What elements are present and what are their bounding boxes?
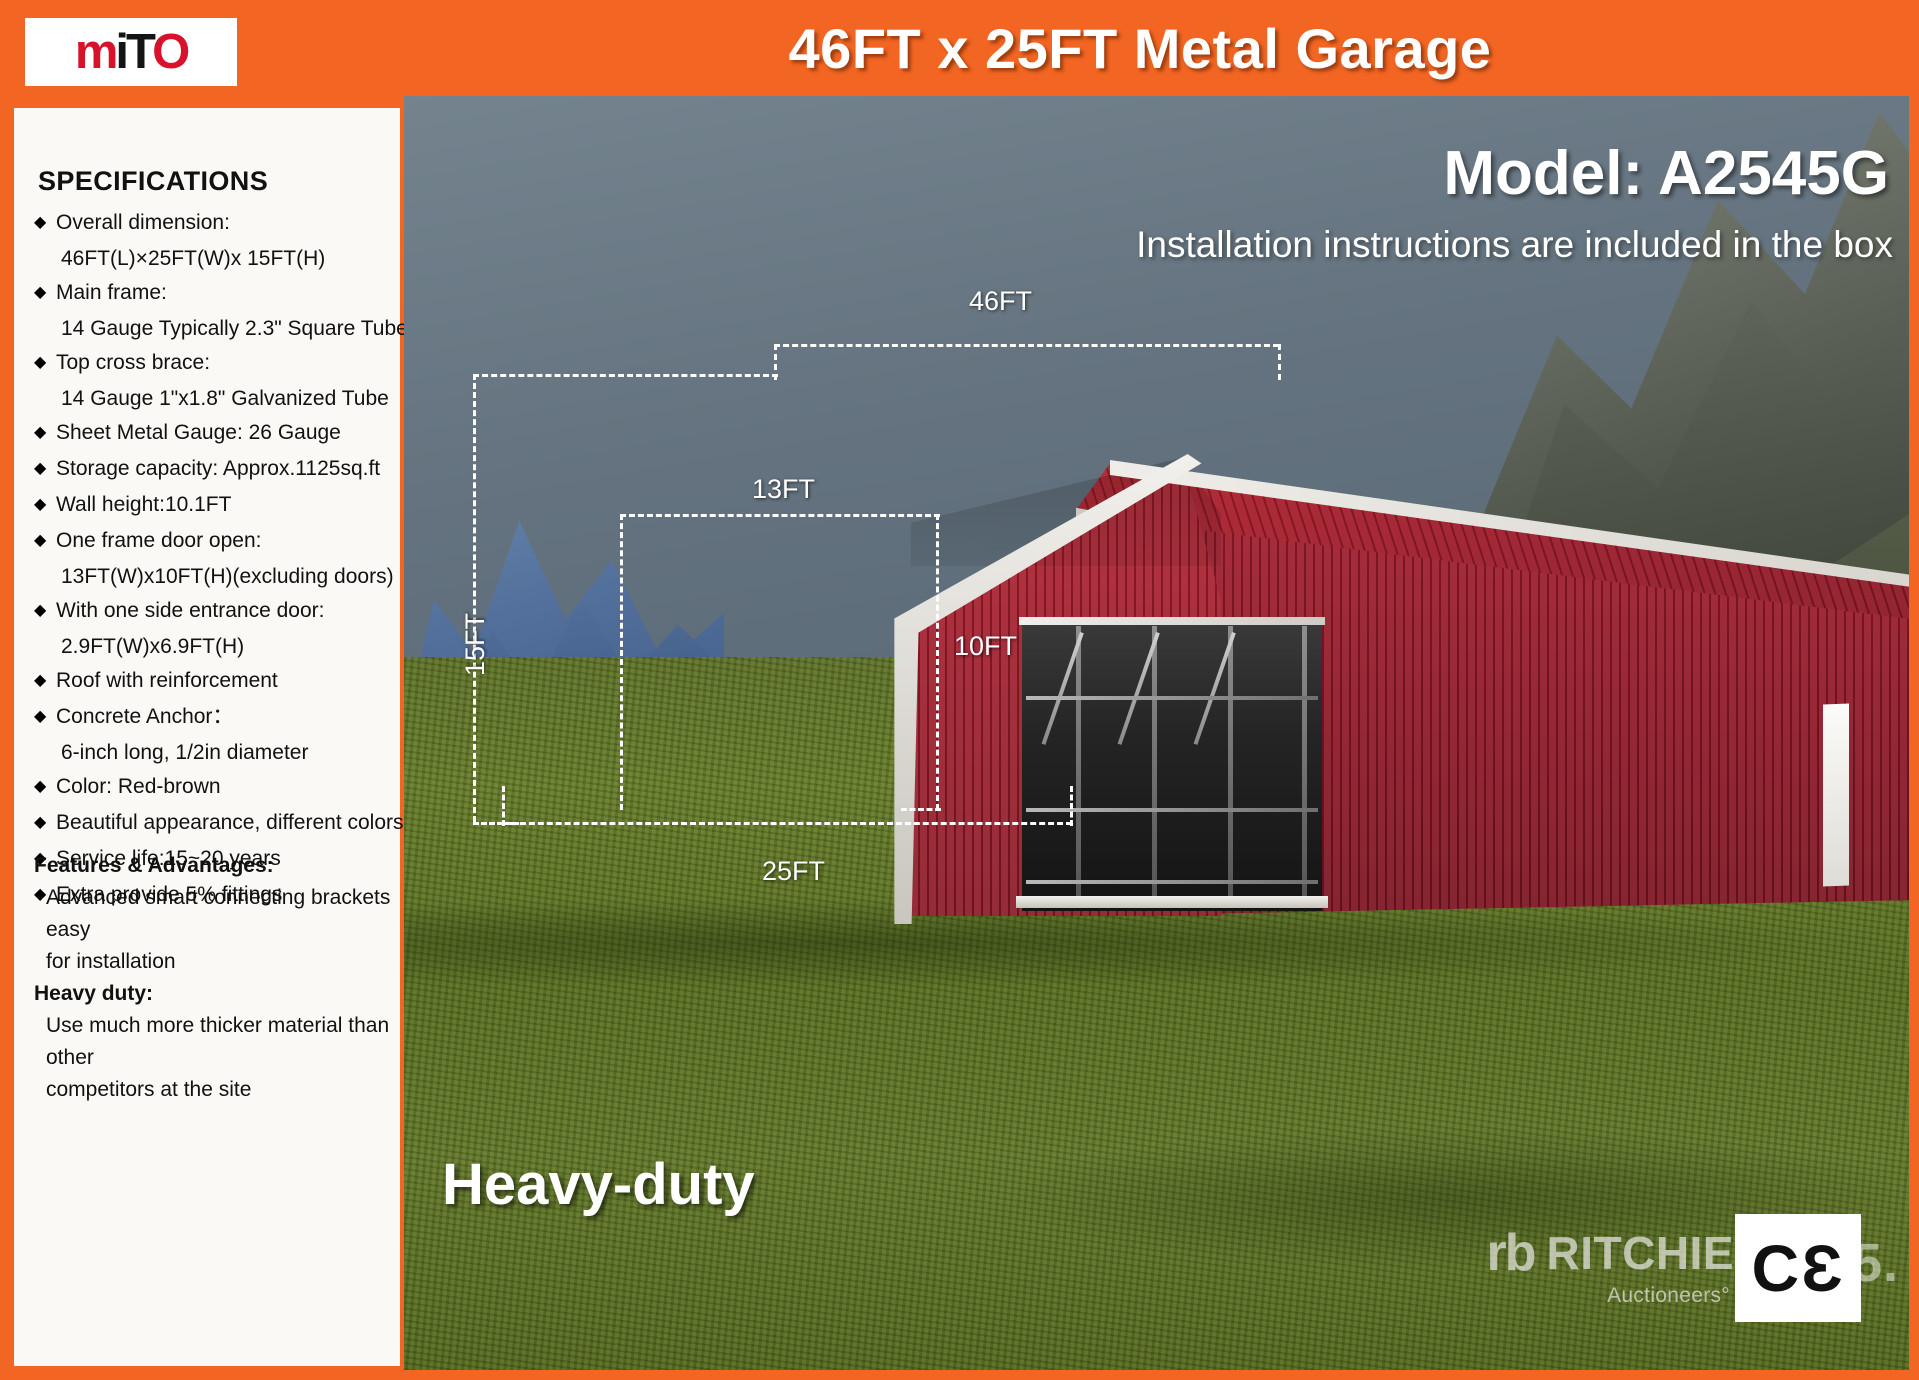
spec-item: ◆With one side entrance door: xyxy=(34,594,404,628)
brand-logo: miTO xyxy=(25,18,237,86)
dimension-line-width-bottom xyxy=(502,822,1072,825)
dimension-label-height: 15FT xyxy=(460,613,491,676)
spec-item-label: Color: Red-brown xyxy=(56,770,221,804)
logo-part-m: m xyxy=(75,25,116,79)
dimension-label-door-height: 10FT xyxy=(954,631,1017,662)
dimension-line-height-top xyxy=(473,374,778,377)
heavy-duty-body-line-1: Use much more thicker material than othe… xyxy=(34,1010,406,1074)
tagline-heavy-duty: Heavy-duty xyxy=(442,1151,755,1218)
ce-mark-text: CƐ xyxy=(1751,1235,1844,1301)
diamond-bullet-icon: ◆ xyxy=(34,664,56,698)
diamond-bullet-icon: ◆ xyxy=(34,346,56,380)
spec-item-detail: 14 Gauge Typically 2.3" Square Tube xyxy=(61,312,404,346)
specifications-list: ◆Overall dimension:46FT(L)×25FT(W)x 15FT… xyxy=(34,206,404,914)
garage-door-header-trim xyxy=(1019,617,1325,625)
interior-rail xyxy=(1026,880,1318,884)
page-title: 46FT x 25FT Metal Garage xyxy=(430,16,1850,81)
dimension-label-width: 25FT xyxy=(762,856,825,887)
spec-item-label: Sheet Metal Gauge: 26 Gauge xyxy=(56,416,341,450)
diamond-bullet-icon: ◆ xyxy=(34,594,56,628)
ritchie-logo-line: rb RITCHIE xyxy=(1487,1227,1735,1279)
diamond-bullet-icon: ◆ xyxy=(34,206,56,240)
diamond-bullet-icon: ◆ xyxy=(34,276,56,310)
garage-door-opening xyxy=(1022,621,1322,911)
garage-door-threshold xyxy=(1016,896,1328,908)
dimension-tick-length-right xyxy=(1278,344,1281,380)
ce-mark-badge: CƐ xyxy=(1735,1214,1861,1322)
spec-item: ◆Roof with reinforcement xyxy=(34,664,404,698)
heavy-duty-body-line-2: competitors at the site xyxy=(34,1074,406,1106)
poster-header: miTO 46FT x 25FT Metal Garage xyxy=(0,0,1919,102)
spec-item: ◆Main frame: xyxy=(34,276,404,310)
ritchie-rb-mark: rb xyxy=(1487,1227,1535,1279)
diamond-bullet-icon: ◆ xyxy=(34,452,56,486)
spec-item: ◆Beautiful appearance, different colors xyxy=(34,806,404,840)
spec-item: ◆Color: Red-brown xyxy=(34,770,404,804)
side-entrance-door xyxy=(1823,704,1849,887)
spec-item-label: Beautiful appearance, different colors xyxy=(56,806,404,840)
interior-post xyxy=(1302,626,1307,898)
ritchie-watermark: rb RITCHIE Auctioneers° xyxy=(1487,1227,1735,1308)
diamond-bullet-icon: ◆ xyxy=(34,524,56,558)
spec-item-label: Concrete Anchor： xyxy=(56,700,233,734)
dimension-tick-width-right xyxy=(1070,786,1073,826)
dimension-line-height-vertical xyxy=(473,374,476,822)
spec-item-label: Storage capacity: Approx.1125sq.ft xyxy=(56,452,380,486)
spec-item-detail: 13FT(W)x10FT(H)(excluding doors) xyxy=(61,560,404,594)
spec-item-label: Main frame: xyxy=(56,276,167,310)
diamond-bullet-icon: ◆ xyxy=(34,770,56,804)
specifications-panel: SPECIFICATIONS ◆Overall dimension:46FT(L… xyxy=(14,108,400,1366)
ritchie-name: RITCHIE xyxy=(1547,1230,1735,1276)
diamond-bullet-icon: ◆ xyxy=(34,488,56,522)
spec-item: ◆Storage capacity: Approx.1125sq.ft xyxy=(34,452,404,486)
spec-item-label: Overall dimension: xyxy=(56,206,230,240)
diamond-bullet-icon: ◆ xyxy=(34,806,56,840)
interior-rail xyxy=(1026,696,1318,700)
product-poster: miTO 46FT x 25FT Metal Garage SPECIFICAT… xyxy=(0,0,1919,1380)
dimension-line-door-right xyxy=(936,514,939,810)
spec-item: ◆Concrete Anchor： xyxy=(34,700,404,734)
brand-logo-text: miTO xyxy=(75,28,187,77)
interior-post xyxy=(1076,626,1081,898)
product-photo: 46FT 15FT 25FT 13FT 10FT Model: A2545G I… xyxy=(404,96,1909,1370)
logo-part-o: O xyxy=(152,25,187,79)
dimension-line-length-top xyxy=(774,344,1279,347)
heavy-duty-heading: Heavy duty: xyxy=(34,978,406,1010)
spec-item-label: Roof with reinforcement xyxy=(56,664,278,698)
spec-item-label: One frame door open: xyxy=(56,524,261,558)
features-body-line-1: Advanced smart connecting brackets easy xyxy=(34,882,406,946)
interior-post xyxy=(1152,626,1157,898)
interior-post xyxy=(1228,626,1233,898)
spec-item-detail: 46FT(L)×25FT(W)x 15FT(H) xyxy=(61,242,404,276)
features-advantages-block: Features & Advantages: Advanced smart co… xyxy=(34,850,406,1106)
features-body-line-2: for installation xyxy=(34,946,406,978)
spec-item: ◆Sheet Metal Gauge: 26 Gauge xyxy=(34,416,404,450)
spec-item: ◆Overall dimension: xyxy=(34,206,404,240)
dimension-line-door-width xyxy=(620,514,940,517)
spec-item-label: Wall height:10.1FT xyxy=(56,488,231,522)
spec-item-label: Top cross brace: xyxy=(56,346,210,380)
spec-item: ◆Wall height:10.1FT xyxy=(34,488,404,522)
spec-item-label: With one side entrance door: xyxy=(56,594,325,628)
dimension-tick-width-left xyxy=(502,786,505,826)
spec-item-detail: 2.9FT(W)x6.9FT(H) xyxy=(61,630,404,664)
model-number: Model: A2545G xyxy=(1443,138,1889,209)
dimension-tick-door-bottom xyxy=(901,808,941,811)
installation-note: Installation instructions are included i… xyxy=(1136,224,1893,266)
ritchie-subtitle: Auctioneers° xyxy=(1607,1283,1730,1308)
dimension-line-door-left xyxy=(620,514,623,810)
spec-item: ◆One frame door open: xyxy=(34,524,404,558)
diamond-bullet-icon: ◆ xyxy=(34,700,56,734)
dimension-label-length: 46FT xyxy=(969,286,1032,317)
dimension-label-door-width: 13FT xyxy=(752,474,815,505)
spec-item: ◆Top cross brace: xyxy=(34,346,404,380)
diamond-bullet-icon: ◆ xyxy=(34,416,56,450)
spec-item-detail: 6-inch long, 1/2in diameter xyxy=(61,736,404,770)
spec-item-detail: 14 Gauge 1"x1.8" Galvanized Tube xyxy=(61,382,404,416)
specifications-heading: SPECIFICATIONS xyxy=(38,166,268,197)
logo-part-it: iT xyxy=(115,25,152,79)
features-heading: Features & Advantages: xyxy=(34,850,406,882)
